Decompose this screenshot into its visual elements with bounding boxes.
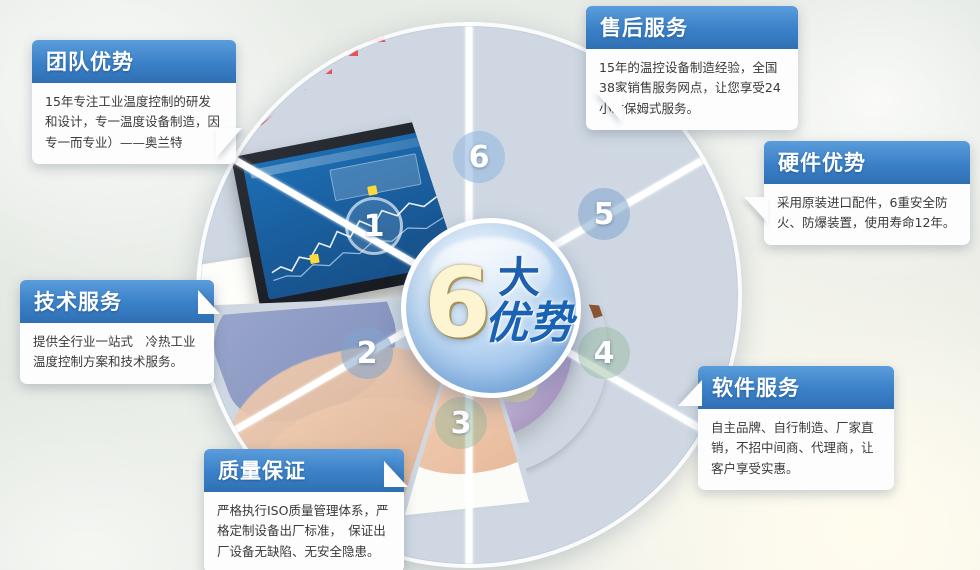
center-hub[interactable]: 6 大 优势 [401, 218, 581, 398]
callout-quality-body: 严格执行ISO质量管理体系，严格定制设备出厂标准， 保证出厂设备无缺陷、无安全隐… [204, 492, 404, 570]
segment-number-5[interactable]: 5 [578, 188, 630, 240]
callout-software-tail [678, 380, 702, 406]
callout-software-body: 自主品牌、自行制造、厂家直销，不招中间商、代理商，让客户享受实惠。 [698, 409, 894, 490]
callout-hardware-tail [744, 197, 768, 223]
segment-number-4[interactable]: 4 [578, 327, 630, 379]
callout-tech[interactable]: 技术服务 提供全行业一站式 冷热工业温度控制方案和技术服务。 [20, 280, 214, 384]
segment-number-2[interactable]: 2 [341, 327, 393, 379]
callout-quality[interactable]: 质量保证 严格执行ISO质量管理体系，严格定制设备出厂标准， 保证出厂设备无缺陷… [204, 449, 404, 570]
hub-big-char: 大 [498, 257, 540, 299]
callout-quality-title: 质量保证 [204, 449, 404, 492]
callout-aftersales-tail [596, 92, 622, 122]
segment-number-3[interactable]: 3 [435, 397, 487, 449]
callout-aftersales-title: 售后服务 [586, 6, 798, 49]
callout-team[interactable]: 团队优势 15年专注工业温度控制的研发和设计，专一温度设备制造，因专一而专业）—… [32, 40, 236, 164]
callout-team-tail [216, 128, 242, 158]
hub-word: 优势 [484, 301, 574, 347]
callout-tech-tail [198, 290, 220, 314]
callout-team-title: 团队优势 [32, 40, 236, 83]
callout-software[interactable]: 软件服务 自主品牌、自行制造、厂家直销，不招中间商、代理商，让客户享受实惠。 [698, 366, 894, 490]
callout-hardware-title: 硬件优势 [764, 141, 970, 184]
callout-quality-tail [384, 461, 408, 487]
segment-number-1[interactable]: 1 [345, 197, 403, 255]
hub-number: 6 [424, 257, 491, 349]
callout-team-body: 15年专注工业温度控制的研发和设计，专一温度设备制造，因专一而专业）——奥兰特 [32, 83, 236, 164]
chart-marker-low [309, 254, 320, 265]
callout-software-title: 软件服务 [698, 366, 894, 409]
callout-aftersales[interactable]: 售后服务 15年的温控设备制造经验，全国38家销售服务网点，让您享受24小时保姆… [586, 6, 798, 130]
callout-hardware[interactable]: 硬件优势 采用原装进口配件，6重安全防火、防爆装置，使用寿命12年。 [764, 141, 970, 245]
callout-tech-body: 提供全行业一站式 冷热工业温度控制方案和技术服务。 [20, 323, 214, 384]
callout-tech-title: 技术服务 [20, 280, 214, 323]
chart-marker-high [367, 185, 378, 196]
infographic-root: 1 2 3 4 5 6 6 大 优势 团队优势 15年专注工业温度控制的研发和设… [0, 0, 980, 570]
callout-hardware-body: 采用原装进口配件，6重安全防火、防爆装置，使用寿命12年。 [764, 184, 970, 245]
segment-number-6[interactable]: 6 [453, 131, 505, 183]
